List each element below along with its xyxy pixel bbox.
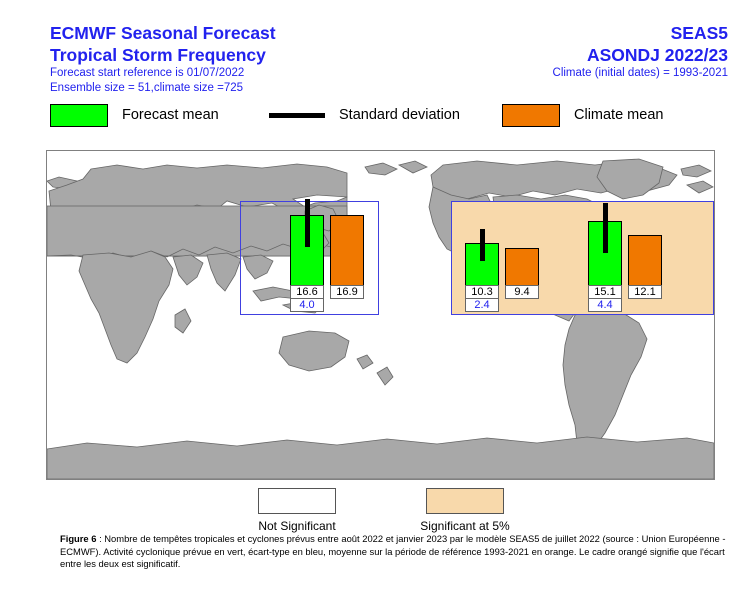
legend-label-standard-deviation: Standard deviation (339, 107, 460, 123)
legend-item-not-significant: Not Significant (242, 488, 352, 533)
standard-deviation-whisker-enp (480, 229, 485, 261)
standard-deviation-value-atl: 4.4 (588, 298, 622, 312)
world-map-plot: 20°E 40°E 60°E 80°E 100°E 120°E 140°E 16… (46, 150, 715, 480)
forecast-mean-value-enp: 10.3 (465, 285, 499, 299)
legend-item-standard-deviation: Standard deviation (269, 103, 460, 127)
forecast-mean-value-atl: 15.1 (588, 285, 622, 299)
standard-deviation-whisker-atl (603, 203, 608, 253)
map-frame: 20°E 40°E 60°E 80°E 100°E 120°E 140°E 16… (46, 150, 715, 480)
climate-mean-value-wnp: 16.9 (330, 285, 364, 299)
not-significant-swatch (258, 488, 336, 514)
standard-deviation-value-wnp: 4.0 (290, 298, 324, 312)
standard-deviation-whisker-wnp (305, 199, 310, 247)
legend-label-forecast-mean: Forecast mean (122, 107, 219, 123)
climate-mean-value-atl: 12.1 (628, 285, 662, 299)
bar-group-eastern-north-pacific: 10.3 9.4 2.4 (465, 239, 545, 289)
climate-mean-bar-enp[interactable] (505, 248, 539, 289)
not-significant-label: Not Significant (242, 519, 352, 533)
significant-label: Significant at 5% (400, 519, 530, 533)
ensemble-size-info: Ensemble size = 51,climate size =725 (50, 81, 276, 96)
header-right-block: SEAS5 ASONDJ 2022/23 Climate (initial da… (553, 22, 728, 81)
climate-mean-value-enp: 9.4 (505, 285, 539, 299)
legend-item-climate-mean: Climate mean (502, 103, 663, 127)
forecast-mean-swatch (50, 104, 108, 127)
page-title: ECMWF Seasonal Forecast (50, 22, 276, 44)
climate-mean-swatch (502, 104, 560, 127)
season-period: ASONDJ 2022/23 (553, 44, 728, 66)
legend-item-significant: Significant at 5% (400, 488, 530, 533)
forecast-start-reference: Forecast start reference is 01/07/2022 (50, 66, 276, 81)
climate-mean-bar-atl[interactable] (628, 235, 662, 289)
figure-caption: Figure 6 : Nombre de tempêtes tropicales… (60, 533, 744, 571)
page-subtitle: Tropical Storm Frequency (50, 44, 276, 66)
significant-swatch (426, 488, 504, 514)
header-left-block: ECMWF Seasonal Forecast Tropical Storm F… (50, 22, 276, 96)
legend-label-climate-mean: Climate mean (574, 107, 663, 123)
bar-group-north-atlantic: 15.1 12.1 4.4 (588, 217, 668, 289)
chart-legend: Forecast mean Standard deviation Climate… (50, 103, 650, 127)
figure-number: Figure 6 (60, 533, 96, 544)
bar-group-western-north-pacific: 16.6 16.9 4.0 (290, 211, 370, 289)
forecast-mean-value-wnp: 16.6 (290, 285, 324, 299)
climate-period: Climate (initial dates) = 1993-2021 (553, 66, 728, 81)
figure-caption-text: : Nombre de tempêtes tropicales et cyclo… (60, 533, 725, 569)
standard-deviation-value-enp: 2.4 (465, 298, 499, 312)
model-name: SEAS5 (553, 22, 728, 44)
significance-legend: Not Significant Significant at 5% (0, 488, 756, 530)
standard-deviation-swatch (269, 113, 325, 118)
climate-mean-bar-wnp[interactable] (330, 215, 364, 289)
legend-item-forecast-mean: Forecast mean (50, 103, 219, 127)
